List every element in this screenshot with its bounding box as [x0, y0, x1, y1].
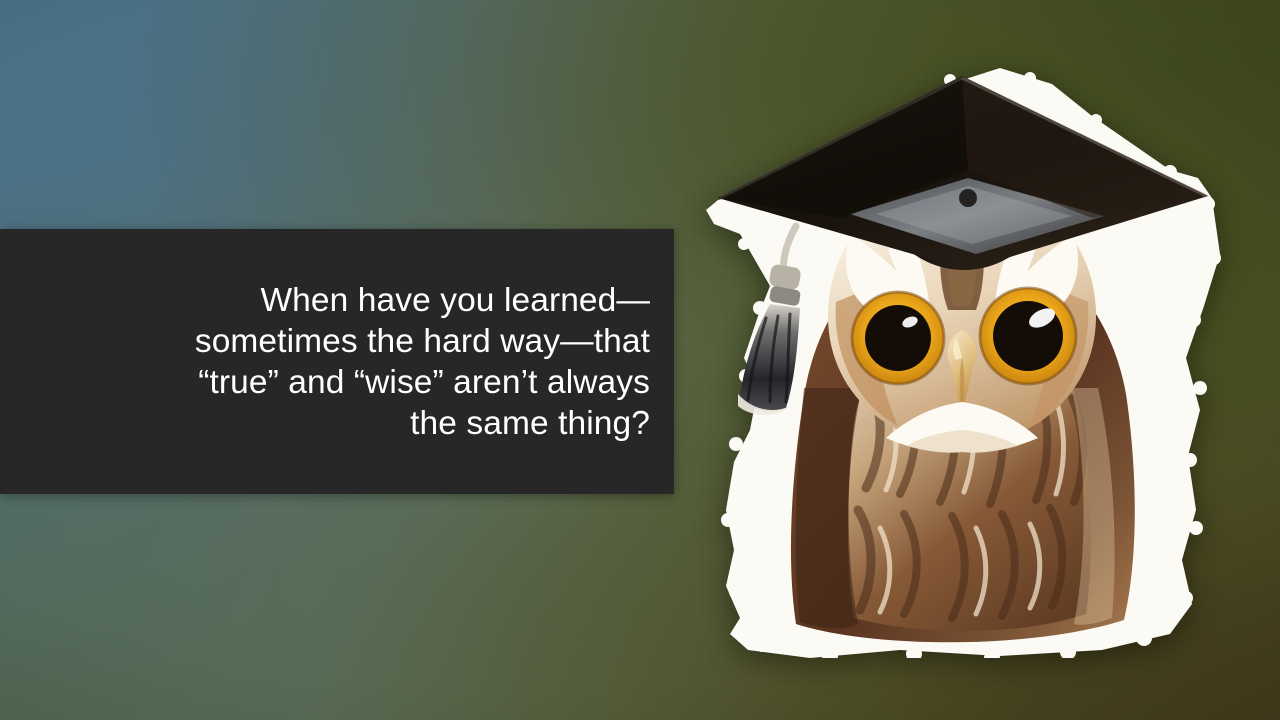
slide-canvas: When have you learned— sometimes the har…	[0, 0, 1280, 720]
owl-eye-left	[852, 292, 944, 384]
caption-text: When have you learned— sometimes the har…	[195, 280, 650, 444]
owl-graduate-illustration	[700, 58, 1230, 658]
owl-eye-right	[980, 288, 1076, 384]
caption-panel: When have you learned— sometimes the har…	[0, 229, 674, 494]
